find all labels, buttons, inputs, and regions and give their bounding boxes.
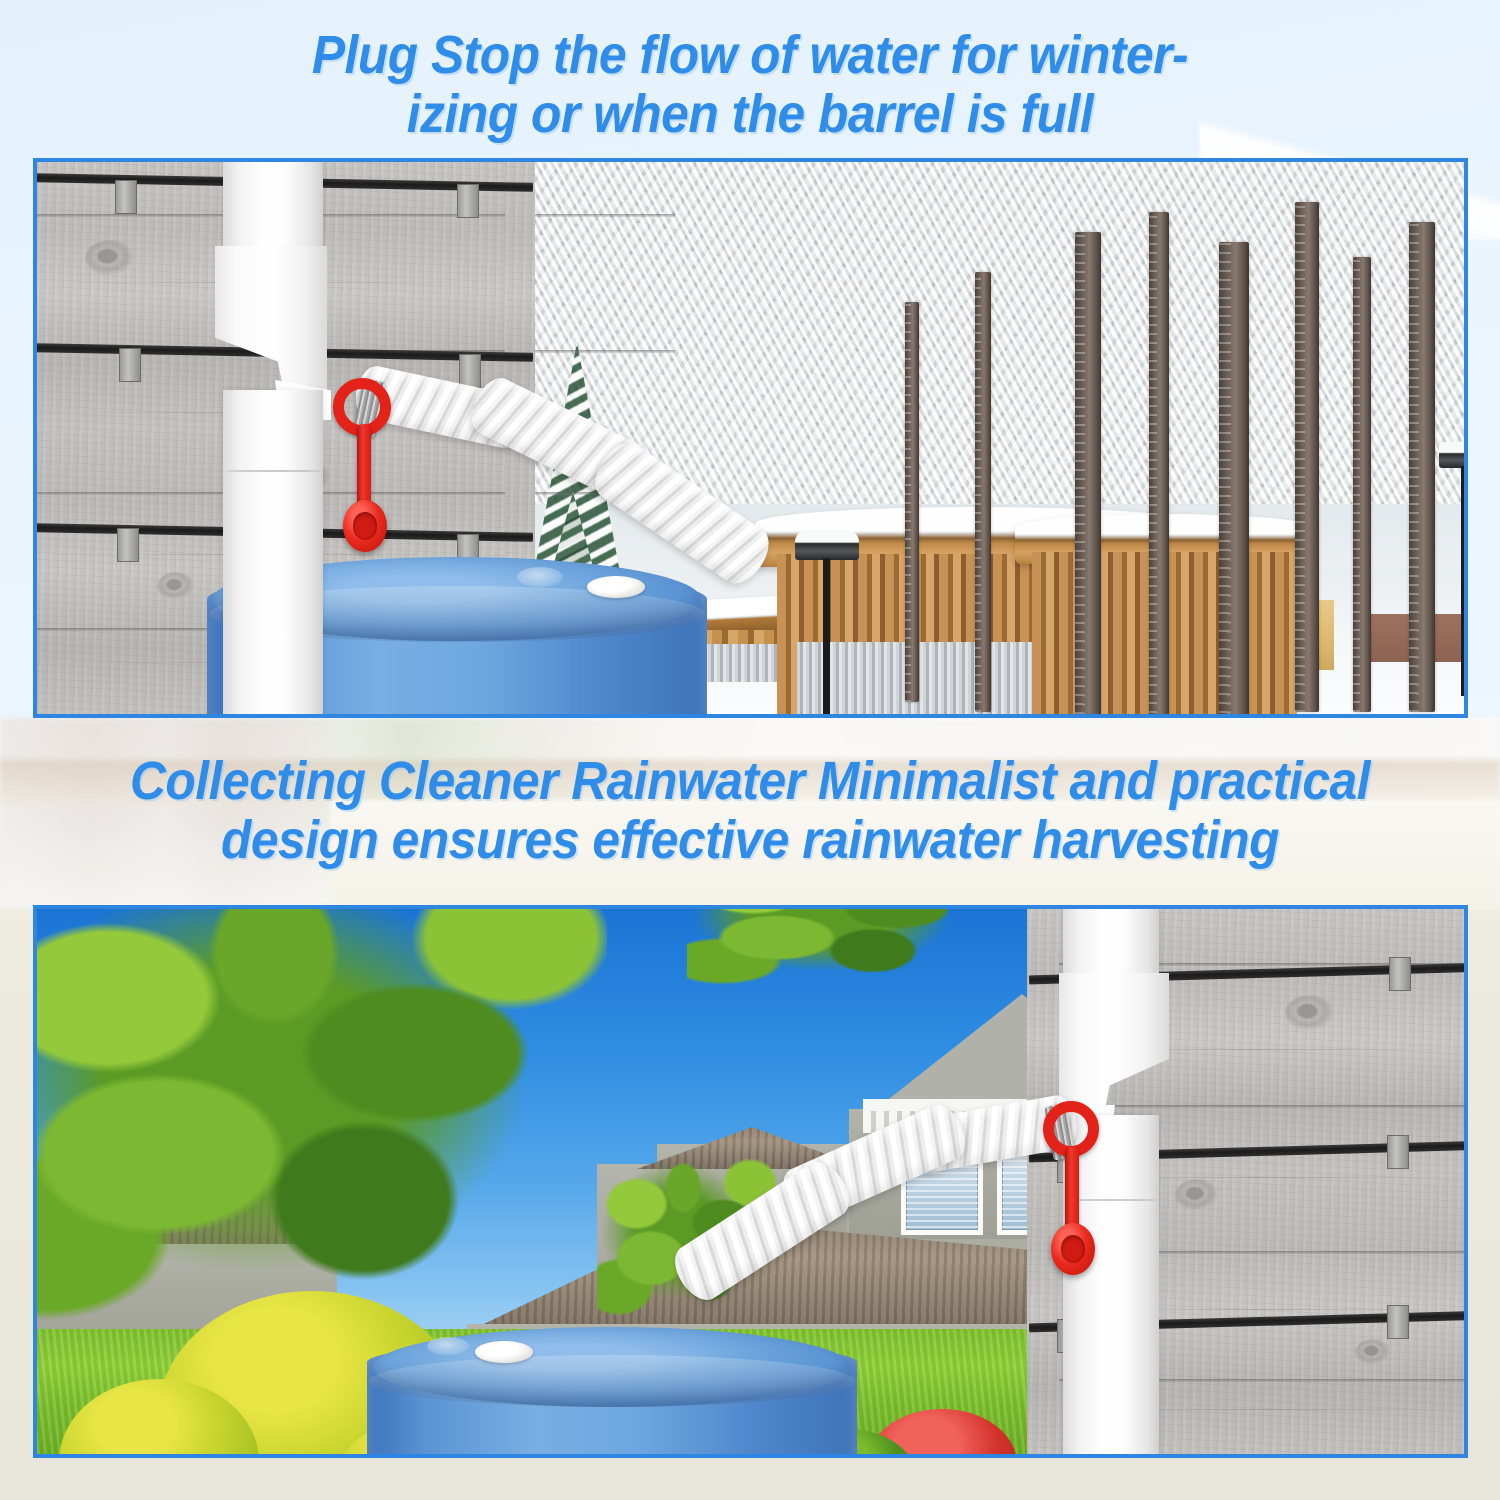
photo-summer-install	[33, 905, 1468, 1458]
headline-rainwater-harvesting: Collecting Cleaner Rainwater Minimalist …	[60, 752, 1440, 871]
tree-trunk	[1149, 212, 1169, 714]
path-lamp-head	[795, 530, 859, 560]
fence-bracket	[119, 348, 141, 382]
photo-winter-install	[33, 158, 1468, 718]
tree-trunk	[1075, 232, 1101, 714]
street-lamp-post	[1461, 466, 1464, 696]
white-downspout-upper	[1063, 909, 1159, 981]
fence-bracket	[1389, 957, 1411, 991]
fence-bracket	[1387, 1305, 1409, 1339]
barrel-dimple	[517, 567, 563, 587]
tree-trunk	[1295, 202, 1319, 712]
white-downspout-upper	[223, 162, 323, 254]
path-lamp-post	[823, 558, 830, 714]
tree-trunk	[975, 272, 991, 712]
barrel-rim-rib	[369, 1355, 855, 1407]
tree-trunk	[1409, 222, 1435, 712]
tree-trunk	[905, 302, 919, 702]
barrel-dimple	[427, 1337, 469, 1355]
fence-bracket	[459, 354, 481, 388]
headline-winterizing: Plug Stop the flow of water for winter- …	[60, 26, 1440, 145]
product-feature-page: Plug Stop the flow of water for winter- …	[0, 0, 1500, 1500]
red-rubber-plug	[1051, 1223, 1095, 1275]
barrel-bung-cap	[587, 576, 645, 598]
fence-bracket	[1387, 1135, 1409, 1169]
barrel-bung-cap	[475, 1341, 533, 1363]
tree-foliage-branch	[687, 909, 987, 987]
tree-trunk	[1353, 257, 1371, 712]
wood-siding-edge-strip	[1027, 909, 1059, 1454]
fence-bracket	[457, 184, 479, 218]
red-rubber-plug	[343, 500, 387, 552]
fence-bracket	[115, 180, 137, 214]
white-downspout-lower	[223, 390, 323, 714]
summer-scene	[37, 909, 1464, 1454]
street-lamp-head	[1439, 442, 1464, 468]
tree-foliage-canopy	[37, 909, 607, 1329]
winter-scene	[37, 162, 1464, 714]
downspout-seam	[225, 470, 321, 472]
fence-bracket	[117, 528, 139, 562]
tree-trunk	[1219, 242, 1249, 714]
